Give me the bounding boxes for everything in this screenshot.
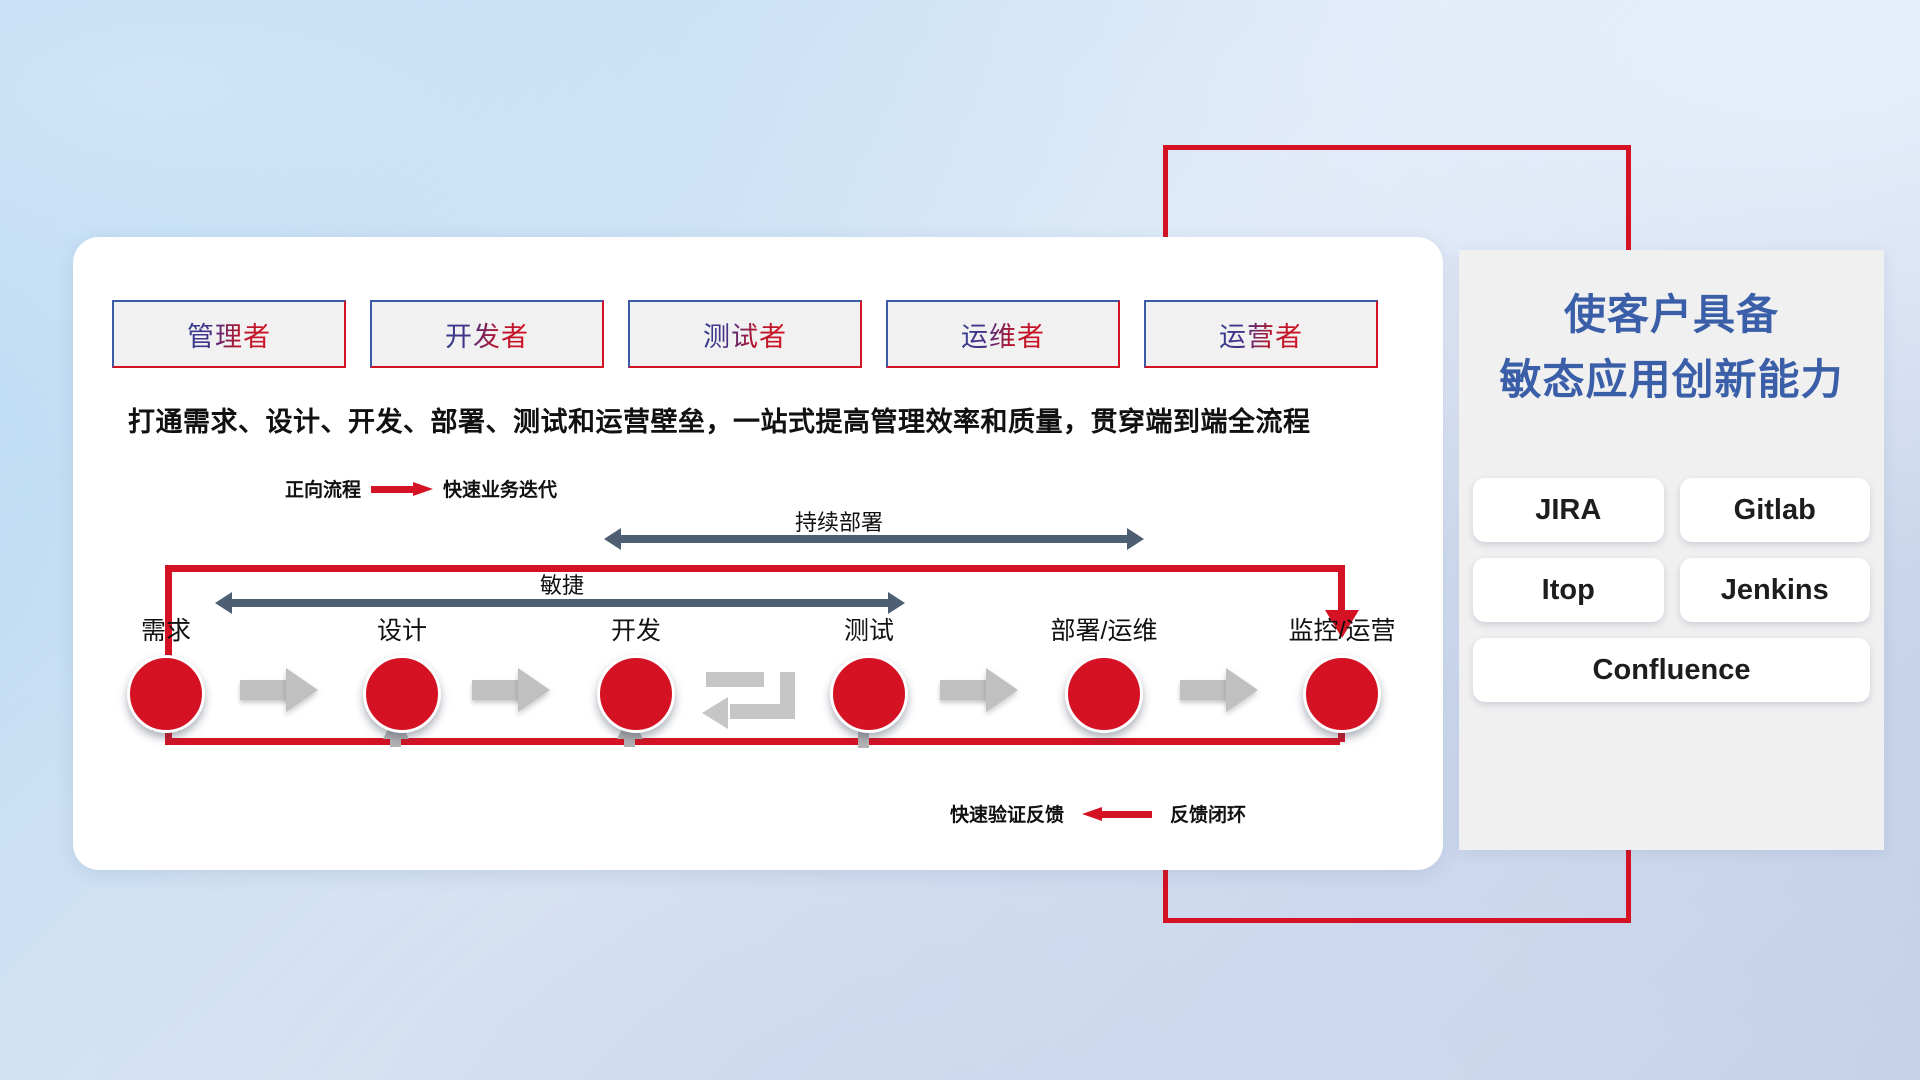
pipeline-node-design-label: 设计 [377,611,427,647]
pipeline-node-development[interactable]: 开发 [597,655,675,733]
slide-canvas: 管理者 开发者 测试者 运维者 运营者 打通需求、设计、开发、部署、测试和运营壁… [0,0,1920,1080]
pipeline-node-deploy-ops-label: 部署/运维 [1051,611,1158,647]
flow-arrow-3-icon [940,668,1018,712]
pipeline-node-circle [1065,655,1143,733]
pipeline-node-requirement[interactable]: 需求 [127,655,205,733]
pipeline-node-design[interactable]: 设计 [363,655,441,733]
arrow-head [286,668,318,712]
arrow-head [518,668,550,712]
cycle-bottom-head [702,697,728,729]
pipeline-node-circle [363,655,441,733]
pipeline-node-testing-label: 测试 [844,611,894,647]
cycle-arrow-icon [706,670,802,732]
pipeline-node-circle [1303,655,1381,733]
arrow-shaft [472,680,522,700]
pipeline: 需求 设计 开发 测试 [0,0,1920,1080]
flow-arrow-2-icon [472,668,550,712]
flow-arrow-4-icon [1180,668,1258,712]
flow-arrow-1-icon [240,668,318,712]
pipeline-node-circle [830,655,908,733]
arrow-shaft [240,680,290,700]
pipeline-node-deploy-ops[interactable]: 部署/运维 [1065,655,1143,733]
cycle-bottom-shaft [730,704,788,719]
pipeline-node-development-label: 开发 [611,611,661,647]
arrow-shaft [940,680,990,700]
pipeline-node-requirement-label: 需求 [141,611,191,647]
arrow-head [986,668,1018,712]
pipeline-node-circle [597,655,675,733]
pipeline-node-monitor-operations-label: 监控/运营 [1289,611,1396,647]
arrow-head [1226,668,1258,712]
pipeline-node-circle [127,655,205,733]
pipeline-node-testing[interactable]: 测试 [830,655,908,733]
pipeline-node-monitor-operations[interactable]: 监控/运营 [1303,655,1381,733]
cycle-top-shaft [706,672,764,687]
arrow-shaft [1180,680,1230,700]
